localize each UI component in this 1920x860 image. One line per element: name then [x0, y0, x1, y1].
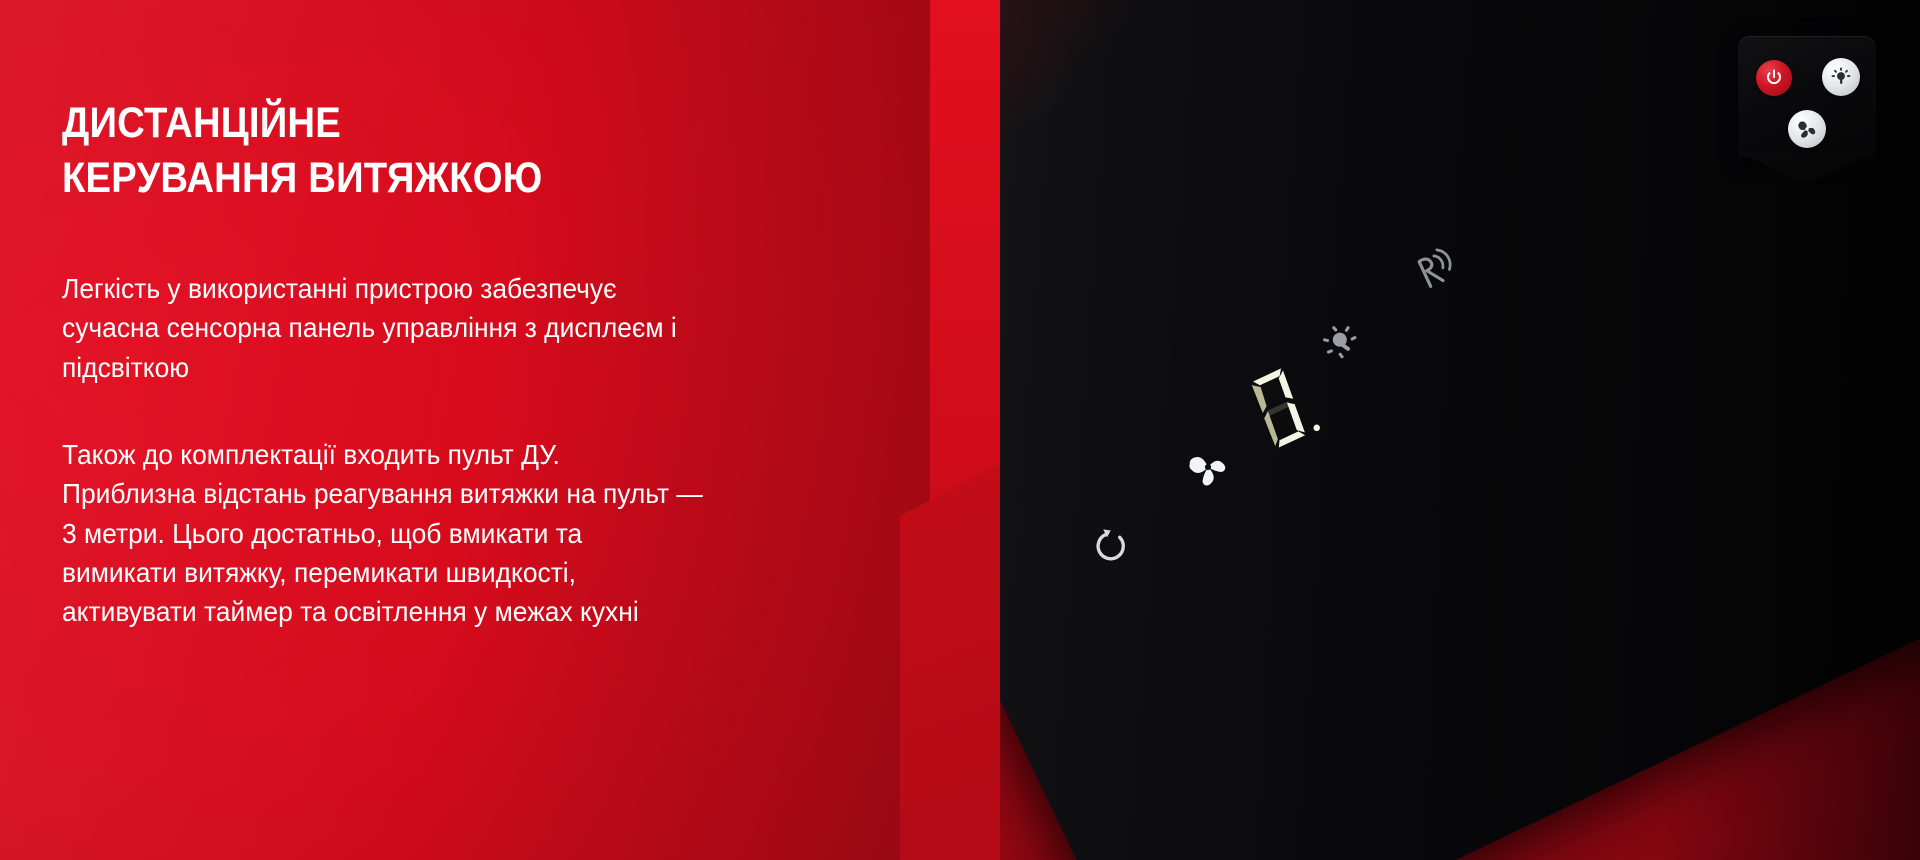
- paragraph-2-line-5: активувати таймер та освітлення у межах …: [62, 592, 849, 631]
- timer-icon[interactable]: [1090, 525, 1132, 567]
- paragraph-1-line-1: Легкість у використанні пристрою забезпе…: [62, 269, 849, 308]
- light-button[interactable]: [1822, 58, 1860, 96]
- paragraph-1: Легкість у використанні пристрою забезпе…: [62, 269, 849, 387]
- paragraph-2-line-3: 3 метри. Цього достатньо, щоб вмикати та: [62, 514, 849, 553]
- power-button[interactable]: [1756, 60, 1792, 96]
- fan-button[interactable]: [1788, 110, 1826, 148]
- fan-icon: [1795, 117, 1819, 141]
- remote-control[interactable]: [1738, 36, 1876, 158]
- heading-line-2: КЕРУВАННЯ ВИТЯЖКОЮ: [62, 151, 792, 206]
- copy-block: ДИСТАНЦІЙНЕ КЕРУВАННЯ ВИТЯЖКОЮ Легкість …: [62, 96, 882, 631]
- page-title: ДИСТАНЦІЙНЕ КЕРУВАННЯ ВИТЯЖКОЮ: [62, 96, 792, 207]
- seven-segment-display: [1243, 368, 1321, 446]
- wireless-signal-icon: [1412, 248, 1454, 290]
- paragraph-2-line-2: Приблизна відстань реагування витяжки на…: [62, 474, 849, 513]
- hood-red-reflection: [1000, 0, 1325, 322]
- power-icon: [1764, 68, 1784, 88]
- paragraph-2: Також до комплектації входить пульт ДУ. …: [62, 435, 849, 632]
- light-bulb-icon: [1830, 66, 1852, 88]
- paragraph-2-line-4: вимикати витяжку, перемикати швидкості,: [62, 553, 849, 592]
- paragraph-1-line-3: підсвіткою: [62, 348, 849, 387]
- paragraph-1-line-2: сучасна сенсорна панель управління з дис…: [62, 308, 849, 347]
- light-bulb-icon[interactable]: [1322, 322, 1362, 362]
- paragraph-2-line-1: Також до комплектації входить пульт ДУ.: [62, 435, 849, 474]
- promo-banner: ДИСТАНЦІЙНЕ КЕРУВАННЯ ВИТЯЖКОЮ Легкість …: [0, 0, 1920, 860]
- fan-icon[interactable]: [1185, 444, 1231, 490]
- heading-line-1: ДИСТАНЦІЙНЕ: [62, 96, 792, 151]
